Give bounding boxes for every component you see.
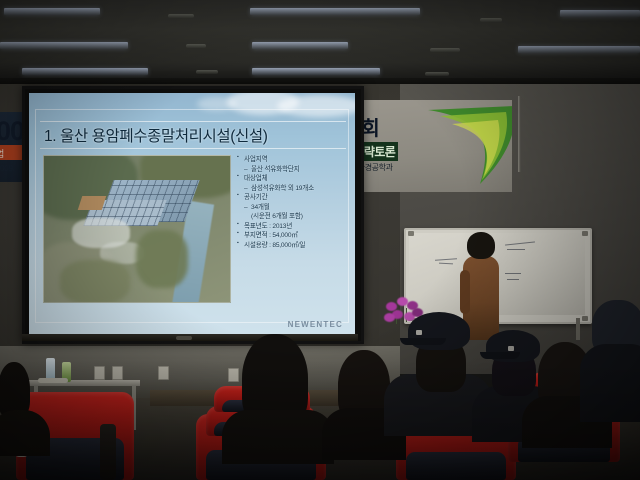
seat-armrest — [100, 424, 116, 480]
presenter-head — [467, 232, 495, 259]
bullet-item: 삼성석유화학 외 19개소 — [237, 184, 341, 194]
banner-left-year: 2009. — [0, 164, 15, 173]
bullet-item: 부지면적 : 54,000㎡ — [237, 231, 341, 241]
bullet-item: 울산 석유화학단지 — [237, 165, 341, 175]
screen-pull-knob — [176, 336, 192, 340]
bullet-item: 대상업체 — [237, 174, 341, 184]
cap-logo-icon — [416, 330, 422, 335]
cap-logo-icon — [508, 346, 514, 351]
lecture-hall-photo: 00 업 2009. 수회 공전략토론 학교 환경공학과 1. 울산 용암폐수종… — [0, 0, 640, 480]
bullet-item: 34개월 — [237, 203, 341, 213]
audience-member-far-right — [590, 300, 640, 422]
audience-member-far-left — [0, 362, 46, 452]
banner-right: 수회 공전략토론 학교 환경공학과 — [338, 100, 512, 192]
banner-swoosh-icon — [422, 104, 512, 190]
cap-brim-icon — [400, 338, 446, 345]
slide-title: 1. 울산 용암폐수종말처리시설(신설) — [40, 121, 346, 149]
slide-photo — [43, 155, 231, 303]
bullet-item: (시운전 6개월 포함) — [237, 212, 341, 222]
projection-screen: 1. 울산 용암폐수종말처리시설(신설) 사업지역 울산 석유화학단지 — [22, 86, 364, 344]
projected-slide: 1. 울산 용암폐수종말처리시설(신설) 사업지역 울산 석유화학단지 — [29, 93, 355, 335]
bullet-item: 목표년도 : 2013년 — [237, 222, 341, 232]
audience-member-long-hair-center — [226, 334, 330, 450]
banner-pole — [518, 96, 521, 172]
presenter-arm — [460, 270, 470, 314]
bullet-item: 공사기간 — [237, 193, 341, 203]
slide-bullet-list: 사업지역 울산 석유화학단지 대상업체 삼성석유화학 외 19개소 공사기간 3… — [237, 155, 341, 250]
slide-logo: NEWENTEC — [288, 320, 343, 329]
cap-brim-icon — [480, 352, 520, 359]
bullet-item: 사업지역 — [237, 155, 341, 165]
whiteboard-leg — [576, 318, 580, 340]
bullet-item: 시설용량 : 85,000㎡/일 — [237, 241, 341, 251]
ceiling — [0, 0, 640, 84]
banner-left-big-text: 00 — [0, 116, 24, 147]
audience-member-cap-left — [396, 312, 482, 434]
